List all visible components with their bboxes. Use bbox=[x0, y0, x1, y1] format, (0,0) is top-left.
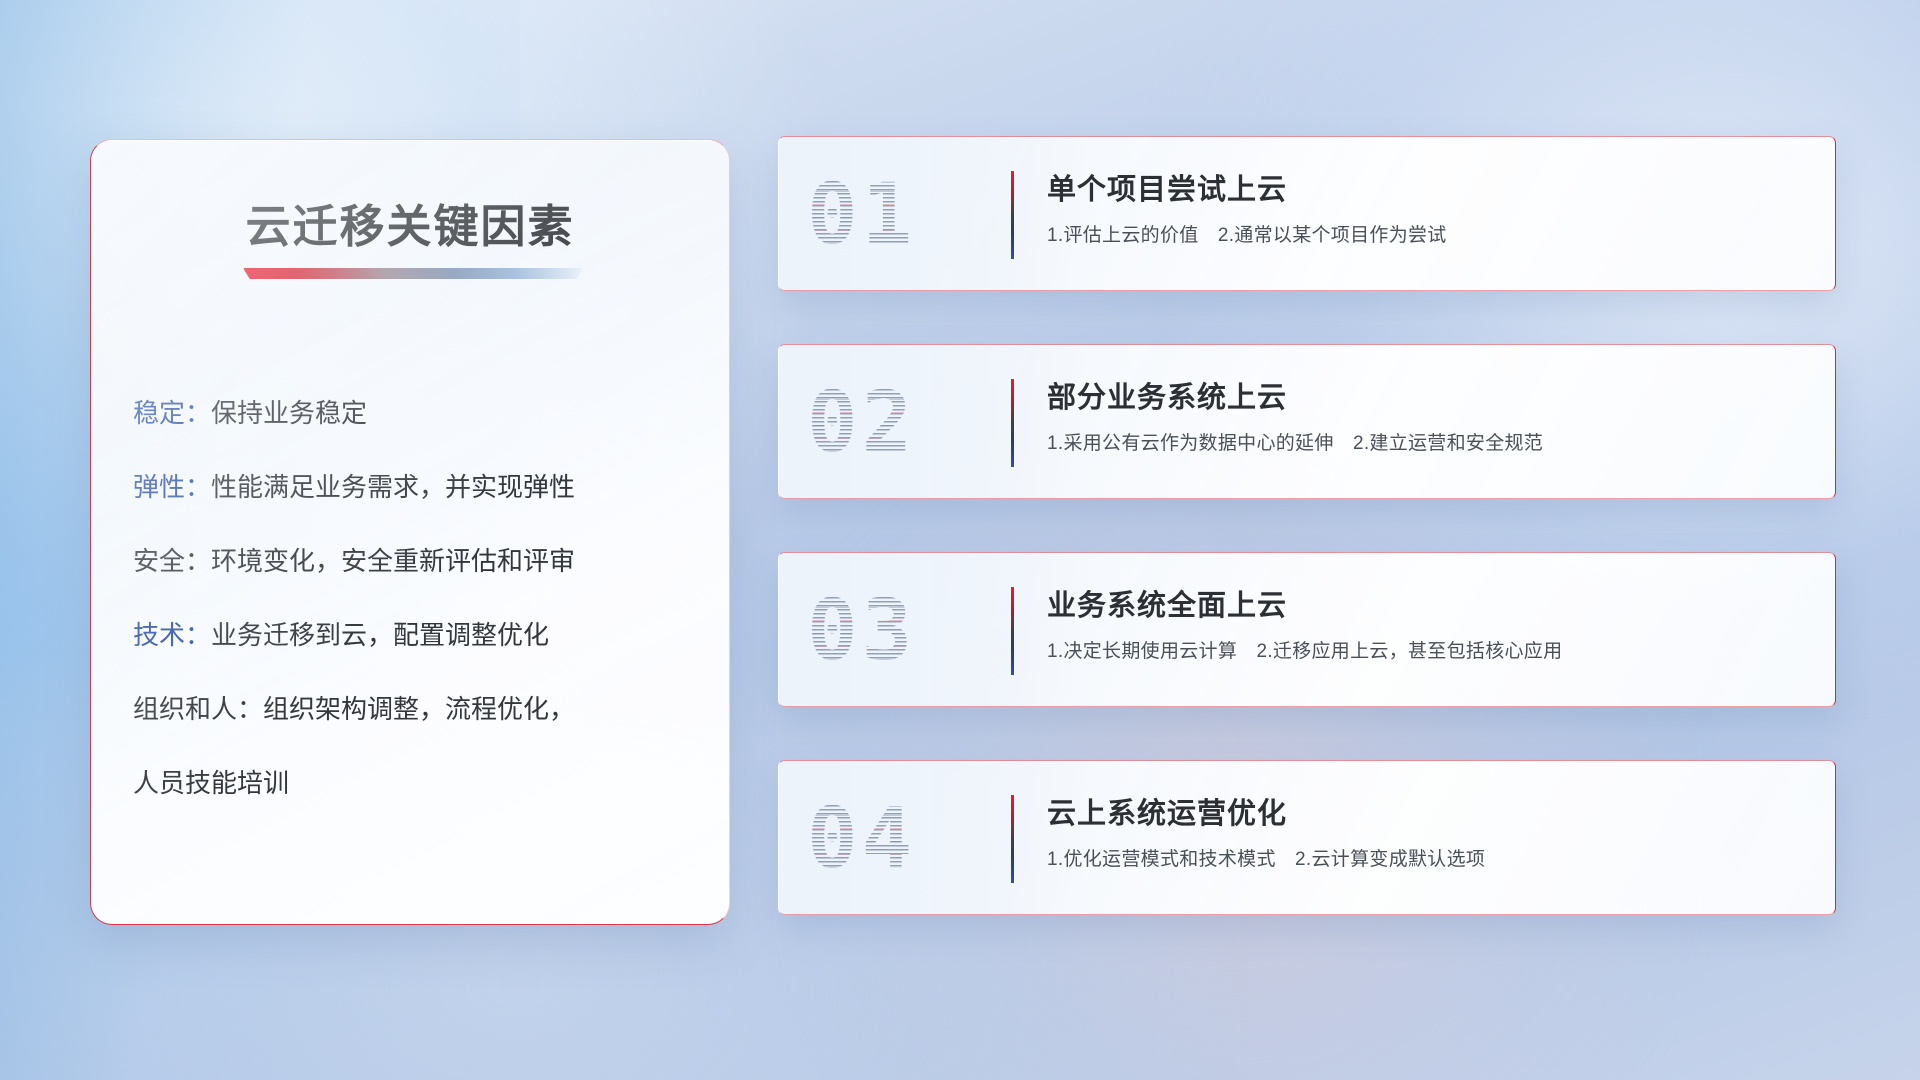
factor-item-security: 安全：环境变化，安全重新评估和评审 bbox=[133, 524, 693, 598]
factor-text: 人员技能培训 bbox=[133, 768, 289, 798]
stage-divider-bar bbox=[1011, 379, 1014, 467]
stage-card-02[interactable]: 02 02 部分业务系统上云 1.采用公有云作为数据中心的延伸 2.建立运营和安… bbox=[778, 344, 1836, 499]
stage-card-body: 部分业务系统上云 1.采用公有云作为数据中心的延伸 2.建立运营和安全规范 bbox=[1047, 378, 1811, 458]
stage-title: 业务系统全面上云 bbox=[1047, 586, 1811, 626]
stage-title: 云上系统运营优化 bbox=[1047, 794, 1811, 834]
factor-label: 安全： bbox=[133, 546, 211, 576]
slide-stage: 云迁移关键因素 稳定：保持业务稳定 弹性：性能满足业务需求，并实现弹性 安全：环… bbox=[0, 0, 1920, 1080]
stage-subtitle: 1.决定长期使用云计算 2.迁移应用上云，甚至包括核心应用 bbox=[1047, 638, 1811, 666]
stage-card-body: 云上系统运营优化 1.优化运营模式和技术模式 2.云计算变成默认选项 bbox=[1047, 794, 1811, 874]
stage-divider-bar bbox=[1011, 795, 1014, 883]
stage-card-03[interactable]: 03 03 业务系统全面上云 1.决定长期使用云计算 2.迁移应用上云，甚至包括… bbox=[778, 552, 1836, 707]
key-factors-panel: 云迁移关键因素 稳定：保持业务稳定 弹性：性能满足业务需求，并实现弹性 安全：环… bbox=[90, 139, 730, 925]
stage-card-body: 业务系统全面上云 1.决定长期使用云计算 2.迁移应用上云，甚至包括核心应用 bbox=[1047, 586, 1811, 666]
factor-text: 性能满足业务需求，并实现弹性 bbox=[211, 472, 575, 502]
factor-list: 稳定：保持业务稳定 弹性：性能满足业务需求，并实现弹性 安全：环境变化，安全重新… bbox=[133, 376, 693, 820]
factor-item-organization: 组织和人：组织架构调整，流程优化， bbox=[133, 672, 693, 746]
stage-divider-bar bbox=[1011, 171, 1014, 259]
stage-card-04[interactable]: 04 04 云上系统运营优化 1.优化运营模式和技术模式 2.云计算变成默认选项 bbox=[778, 760, 1836, 915]
stage-number: 03 bbox=[807, 581, 916, 679]
stage-number: 01 bbox=[807, 165, 916, 263]
stage-number: 02 bbox=[807, 373, 916, 471]
stage-subtitle: 1.优化运营模式和技术模式 2.云计算变成默认选项 bbox=[1047, 846, 1811, 874]
title-underline-rule bbox=[243, 268, 583, 279]
stage-subtitle: 1.评估上云的价值 2.通常以某个项目作为尝试 bbox=[1047, 222, 1811, 250]
factor-label: 稳定： bbox=[133, 398, 211, 428]
migration-stage-cards: 01 01 单个项目尝试上云 1.评估上云的价值 2.通常以某个项目作为尝试 0… bbox=[778, 136, 1836, 968]
factor-text: 环境变化，安全重新评估和评审 bbox=[211, 546, 575, 576]
factor-item-organization-continued: 人员技能培训 bbox=[133, 746, 693, 820]
factor-label: 技术： bbox=[133, 620, 211, 650]
factor-text: 业务迁移到云，配置调整优化 bbox=[211, 620, 549, 650]
page-title: 云迁移关键因素 bbox=[91, 190, 729, 255]
stage-divider-bar bbox=[1011, 587, 1014, 675]
factor-text: 组织架构调整，流程优化， bbox=[263, 694, 575, 724]
factor-item-elasticity: 弹性：性能满足业务需求，并实现弹性 bbox=[133, 450, 693, 524]
stage-title: 部分业务系统上云 bbox=[1047, 378, 1811, 418]
stage-card-01[interactable]: 01 01 单个项目尝试上云 1.评估上云的价值 2.通常以某个项目作为尝试 bbox=[778, 136, 1836, 291]
factor-item-technology: 技术：业务迁移到云，配置调整优化 bbox=[133, 598, 693, 672]
factor-item-stability: 稳定：保持业务稳定 bbox=[133, 376, 693, 450]
stage-card-body: 单个项目尝试上云 1.评估上云的价值 2.通常以某个项目作为尝试 bbox=[1047, 170, 1811, 250]
stage-subtitle: 1.采用公有云作为数据中心的延伸 2.建立运营和安全规范 bbox=[1047, 430, 1811, 458]
stage-title: 单个项目尝试上云 bbox=[1047, 170, 1811, 210]
factor-text: 保持业务稳定 bbox=[211, 398, 367, 428]
factor-label: 弹性： bbox=[133, 472, 211, 502]
factor-label: 组织和人： bbox=[133, 694, 263, 724]
stage-number: 04 bbox=[807, 789, 916, 887]
